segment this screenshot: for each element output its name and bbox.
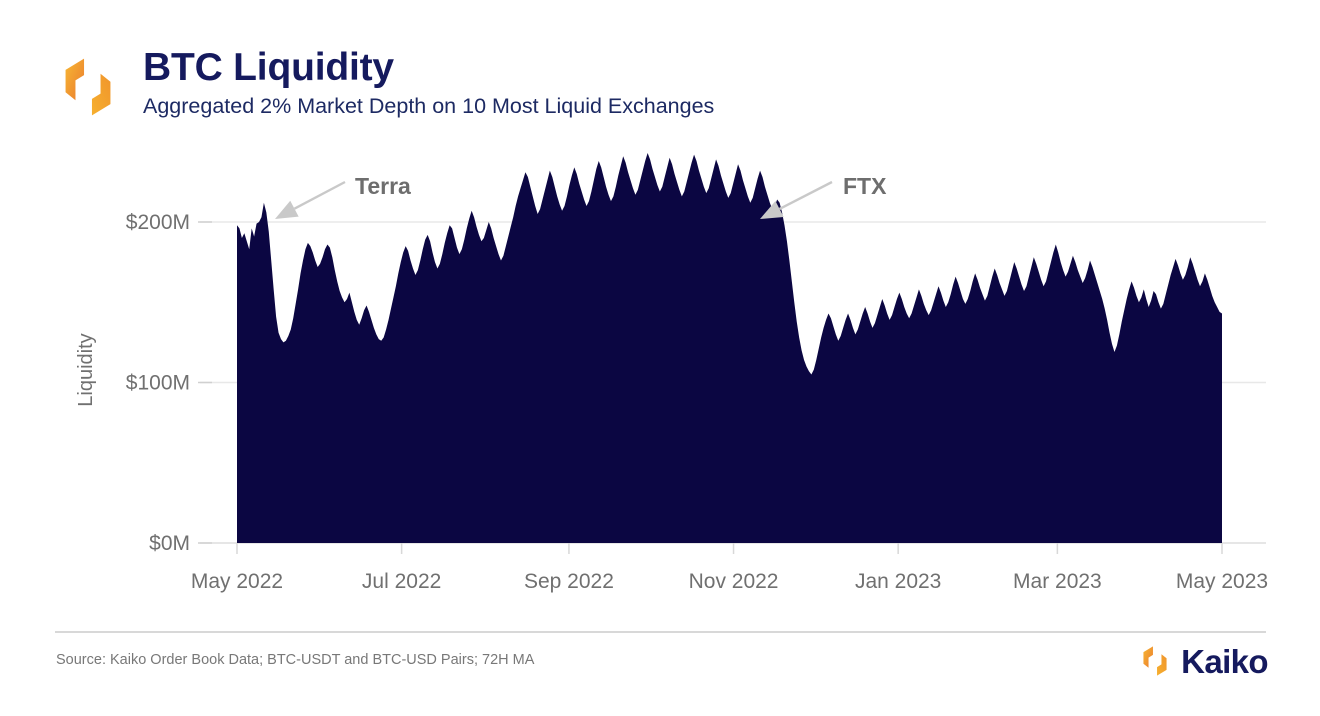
y-axis-title: Liquidity — [75, 333, 97, 406]
x-axis-tick-label: Mar 2023 — [1013, 570, 1102, 593]
y-axis-tick-labels: $0M$100M$200M — [126, 211, 212, 555]
annotation-arrow-shaft — [294, 182, 345, 209]
x-axis-tick-marks — [237, 543, 1222, 554]
x-axis-tick-label: Nov 2022 — [689, 570, 779, 593]
x-axis-tick-label: May 2022 — [191, 570, 283, 593]
x-axis-tick-labels: May 2022Jul 2022Sep 2022Nov 2022Jan 2023… — [191, 570, 1268, 593]
kaiko-logo-icon — [1138, 644, 1172, 678]
x-axis-tick-label: Jul 2022 — [362, 570, 441, 593]
x-axis-tick-label: Sep 2022 — [524, 570, 614, 593]
annotation-label: FTX — [843, 173, 887, 199]
x-axis-tick-label: Jan 2023 — [855, 570, 941, 593]
series-area-liquidity — [237, 153, 1222, 543]
annotation-arrow-shaft — [780, 182, 832, 209]
y-axis-tick-label: $200M — [126, 211, 190, 234]
y-axis-tick-label: $0M — [149, 532, 190, 555]
chart-page: BTC Liquidity Aggregated 2% Market Depth… — [0, 0, 1320, 716]
brand-wordmark: Kaiko — [1181, 645, 1268, 678]
footer-brand: Kaiko — [1138, 644, 1268, 678]
x-axis-tick-label: May 2023 — [1176, 570, 1268, 593]
y-axis-tick-label: $100M — [126, 372, 190, 395]
source-note: Source: Kaiko Order Book Data; BTC-USDT … — [56, 652, 534, 668]
liquidity-area-chart: $0M$100M$200M May 2022Jul 2022Sep 2022No… — [0, 0, 1320, 640]
annotation-label: Terra — [355, 173, 411, 199]
footer-divider — [55, 631, 1266, 633]
area-fill — [237, 153, 1222, 543]
annotation-arrow-head — [275, 201, 299, 219]
chart-plot-area: $0M$100M$200M May 2022Jul 2022Sep 2022No… — [0, 0, 1320, 640]
